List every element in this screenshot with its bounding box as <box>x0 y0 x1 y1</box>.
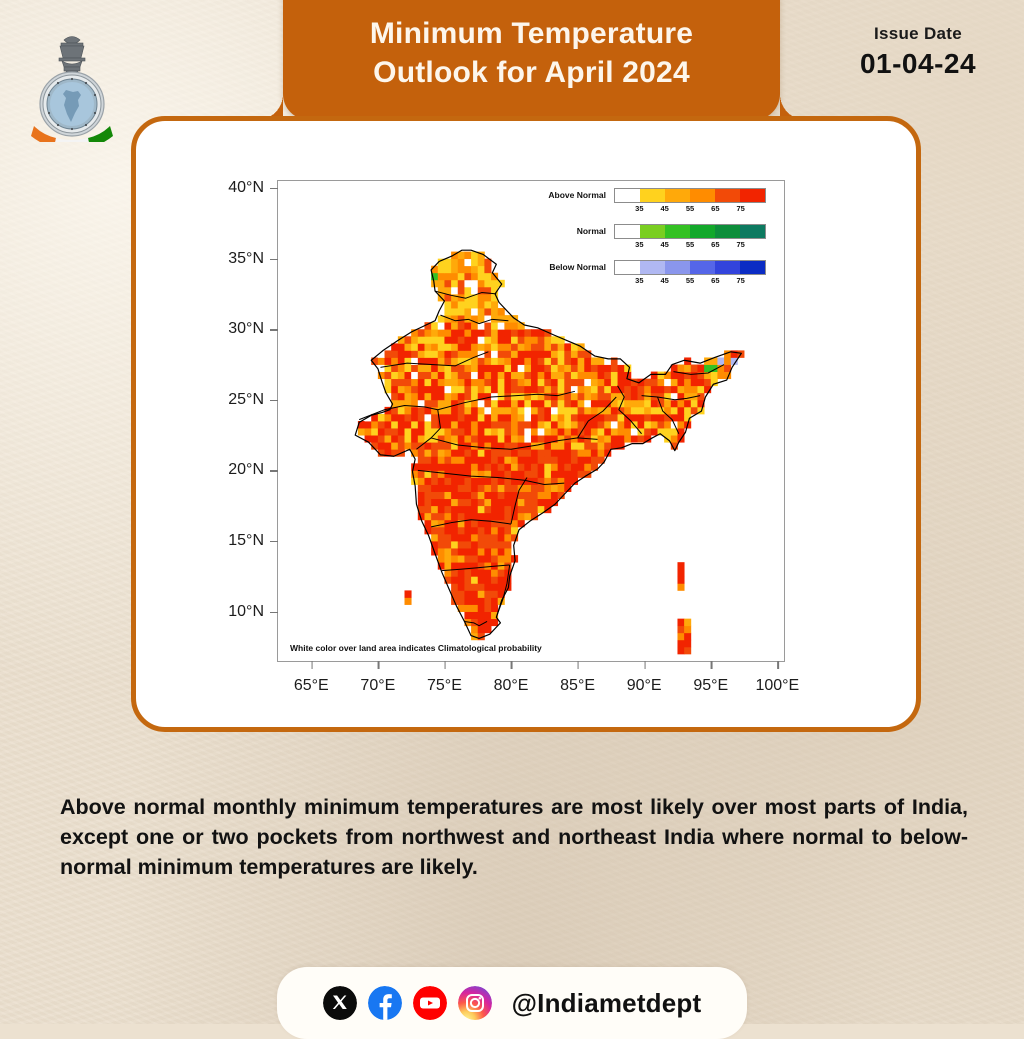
map-cell <box>411 414 418 421</box>
map-cell <box>691 365 698 372</box>
map-cell <box>684 619 691 626</box>
map-cell <box>504 365 511 372</box>
legend-swatch <box>665 261 690 274</box>
map-cell <box>438 477 445 484</box>
map-cell <box>564 343 571 350</box>
map-cell <box>544 449 551 456</box>
map-cell <box>424 506 431 513</box>
map-cell <box>511 414 518 421</box>
map-cell <box>518 414 525 421</box>
map-cell <box>571 357 578 364</box>
map-cell <box>464 322 471 329</box>
map-cell <box>411 365 418 372</box>
map-cell <box>444 280 451 287</box>
map-cell <box>464 336 471 343</box>
map-cell <box>598 421 605 428</box>
map-cell <box>551 485 558 492</box>
map-cell <box>684 633 691 640</box>
map-cell <box>551 442 558 449</box>
map-cell <box>491 583 498 590</box>
map-cell <box>504 492 511 499</box>
map-cell <box>471 273 478 280</box>
map-cell <box>531 506 538 513</box>
map-cell <box>464 605 471 612</box>
map-cell <box>518 421 525 428</box>
map-cell <box>444 329 451 336</box>
map-cell <box>631 400 638 407</box>
map-cell <box>538 357 545 364</box>
map-cell <box>458 315 465 322</box>
map-cell <box>484 527 491 534</box>
map-cell <box>578 372 585 379</box>
map-cell <box>491 322 498 329</box>
map-cell <box>424 499 431 506</box>
map-cell <box>478 273 485 280</box>
map-cell <box>464 393 471 400</box>
map-cell <box>524 421 531 428</box>
map-cell <box>478 301 485 308</box>
map-cell <box>444 336 451 343</box>
map-cell <box>571 463 578 470</box>
x-axis-tick: 100°E <box>755 661 799 695</box>
map-cell <box>471 407 478 414</box>
map-cell <box>544 470 551 477</box>
map-cell <box>624 400 631 407</box>
map-cell <box>524 492 531 499</box>
map-cell <box>664 428 671 435</box>
map-cell <box>564 470 571 477</box>
map-cell <box>591 365 598 372</box>
map-cell <box>431 407 438 414</box>
map-cell <box>378 428 385 435</box>
map-cell <box>464 421 471 428</box>
map-cell <box>431 492 438 499</box>
youtube-icon[interactable] <box>413 986 447 1020</box>
map-cell <box>458 499 465 506</box>
map-cell <box>484 583 491 590</box>
map-cell <box>491 350 498 357</box>
x-axis-tick: 75°E <box>427 661 462 695</box>
legend-tick: 55 <box>686 276 694 285</box>
map-cell <box>511 407 518 414</box>
map-cell <box>524 350 531 357</box>
map-cell <box>484 541 491 548</box>
map-cell <box>378 357 385 364</box>
y-axis-tick: 40°N <box>200 179 278 197</box>
map-cell <box>464 315 471 322</box>
map-cell <box>458 583 465 590</box>
map-cell <box>697 393 704 400</box>
map-cell <box>624 421 631 428</box>
map-cell <box>551 343 558 350</box>
map-cell <box>424 428 431 435</box>
facebook-icon[interactable] <box>368 986 402 1020</box>
legend-swatch <box>640 225 665 238</box>
map-cell <box>491 619 498 626</box>
map-cell <box>451 386 458 393</box>
map-cell <box>611 435 618 442</box>
map-cell <box>578 414 585 421</box>
map-cell <box>464 414 471 421</box>
map-cell <box>631 414 638 421</box>
map-cell <box>518 456 525 463</box>
map-cell <box>444 357 451 364</box>
map-cell <box>491 365 498 372</box>
map-cell <box>464 590 471 597</box>
map-cell <box>444 555 451 562</box>
map-cell <box>431 513 438 520</box>
map-cell <box>451 379 458 386</box>
map-cell <box>558 343 565 350</box>
map-cell <box>644 421 651 428</box>
map-cell <box>471 428 478 435</box>
map-cell <box>664 379 671 386</box>
map-cell <box>458 386 465 393</box>
map-cell <box>717 357 724 364</box>
map-cell <box>584 449 591 456</box>
map-cell <box>444 414 451 421</box>
map-cell <box>451 350 458 357</box>
map-cell <box>438 393 445 400</box>
map-cell <box>444 386 451 393</box>
map-cell <box>444 485 451 492</box>
map-cell <box>538 435 545 442</box>
map-cell <box>558 456 565 463</box>
map-cell <box>544 379 551 386</box>
map-cell <box>438 555 445 562</box>
legend-label: Below Normal <box>528 260 614 275</box>
map-cell <box>464 499 471 506</box>
map-cell <box>491 379 498 386</box>
map-cell <box>491 435 498 442</box>
y-axis-tick: 15°N <box>200 532 278 550</box>
map-cell <box>484 357 491 364</box>
map-cell <box>651 379 658 386</box>
legend-row: Above Normal3545556575 <box>528 188 776 215</box>
map-cell <box>451 435 458 442</box>
map-cell <box>491 513 498 520</box>
map-cell <box>431 421 438 428</box>
map-cell <box>598 372 605 379</box>
map-cell <box>424 414 431 421</box>
map-cell <box>558 485 565 492</box>
map-cell <box>471 308 478 315</box>
map-cell <box>558 463 565 470</box>
map-cell <box>438 470 445 477</box>
map-cell <box>524 506 531 513</box>
map-cell <box>598 449 605 456</box>
map-cell <box>504 470 511 477</box>
map-cell <box>418 393 425 400</box>
map-cell <box>531 421 538 428</box>
map-cell <box>491 372 498 379</box>
map-cell <box>438 520 445 527</box>
map-cell <box>671 414 678 421</box>
map-cell <box>398 435 405 442</box>
map-cell <box>578 442 585 449</box>
map-cell <box>451 301 458 308</box>
map-cell <box>464 583 471 590</box>
map-cell <box>591 386 598 393</box>
map-cell <box>451 266 458 273</box>
map-cell <box>551 407 558 414</box>
map-cell <box>444 322 451 329</box>
map-cell <box>498 548 505 555</box>
map-cell <box>511 470 518 477</box>
map-cell <box>438 548 445 555</box>
map-cell <box>538 379 545 386</box>
legend-swatches <box>614 260 766 275</box>
map-cell <box>571 421 578 428</box>
map-cell <box>531 357 538 364</box>
map-cell <box>424 492 431 499</box>
legend-tick: 65 <box>711 276 719 285</box>
x-axis-tick: 80°E <box>494 661 529 695</box>
map-cell <box>671 407 678 414</box>
map-cell <box>478 329 485 336</box>
map-cell <box>524 407 531 414</box>
map-cell <box>531 400 538 407</box>
map-cell <box>478 386 485 393</box>
map-cell <box>411 393 418 400</box>
map-cell <box>484 569 491 576</box>
map-cell <box>418 499 425 506</box>
map-cell <box>531 492 538 499</box>
map-cell <box>458 477 465 484</box>
map-cell <box>451 562 458 569</box>
map-cell <box>571 456 578 463</box>
map-cell <box>618 414 625 421</box>
map-cell <box>464 456 471 463</box>
map-cell <box>478 492 485 499</box>
map-cell <box>551 421 558 428</box>
map-cell <box>538 386 545 393</box>
map-cell <box>498 576 505 583</box>
map-cell <box>438 343 445 350</box>
map-cell <box>531 365 538 372</box>
map-cell <box>531 379 538 386</box>
map-cell <box>418 463 425 470</box>
map-card: Above Normal3545556575Normal3545556575Be… <box>131 116 921 732</box>
map-cell <box>458 287 465 294</box>
map-cell <box>558 379 565 386</box>
map-cell <box>378 421 385 428</box>
map-cell <box>451 541 458 548</box>
issue-date-value: 01-04-24 <box>830 48 1006 80</box>
legend-tick: 35 <box>635 276 643 285</box>
map-cell <box>464 477 471 484</box>
map-cell <box>511 350 518 357</box>
map-cell <box>651 372 658 379</box>
map-cell <box>438 499 445 506</box>
map-cell <box>405 590 412 597</box>
map-cell <box>584 372 591 379</box>
x-twitter-icon[interactable] <box>323 986 357 1020</box>
map-cell <box>604 428 611 435</box>
map-cell <box>511 485 518 492</box>
map-cell <box>438 336 445 343</box>
map-cell <box>584 386 591 393</box>
map-cell <box>391 372 398 379</box>
map-cell <box>591 357 598 364</box>
map-cell <box>504 513 511 520</box>
map-cell <box>478 449 485 456</box>
map-cell <box>418 386 425 393</box>
map-cell <box>651 414 658 421</box>
map-cell <box>405 386 412 393</box>
map-cell <box>451 315 458 322</box>
map-cell <box>598 428 605 435</box>
map-cell <box>478 513 485 520</box>
map-cell <box>471 266 478 273</box>
map-cell <box>518 428 525 435</box>
map-cell <box>677 640 684 647</box>
map-cell <box>504 428 511 435</box>
map-cell <box>498 470 505 477</box>
map-cell <box>471 534 478 541</box>
map-cell <box>458 280 465 287</box>
map-cell <box>491 527 498 534</box>
legend-label: Normal <box>528 224 614 239</box>
map-cell <box>611 386 618 393</box>
map-cell <box>471 329 478 336</box>
map-cell <box>484 456 491 463</box>
legend-tick-labels: 3545556575 <box>614 240 766 251</box>
map-cell <box>451 527 458 534</box>
map-cell <box>464 428 471 435</box>
map-cell <box>478 428 485 435</box>
map-cell <box>651 400 658 407</box>
map-cell <box>418 350 425 357</box>
map-cell <box>631 428 638 435</box>
map-cell <box>571 379 578 386</box>
map-cell <box>424 520 431 527</box>
map-cell <box>624 393 631 400</box>
map-cell <box>484 393 491 400</box>
map-cell <box>677 400 684 407</box>
map-cell <box>398 407 405 414</box>
map-cell <box>511 379 518 386</box>
map-cell <box>418 421 425 428</box>
map-cell <box>444 308 451 315</box>
map-cell <box>464 492 471 499</box>
map-cell <box>518 435 525 442</box>
map-cell <box>371 435 378 442</box>
page-title-line-1: Minimum Temperature <box>370 14 693 53</box>
map-legend: Above Normal3545556575Normal3545556575Be… <box>528 188 776 296</box>
instagram-icon[interactable] <box>458 986 492 1020</box>
map-cell <box>438 492 445 499</box>
map-cell <box>598 393 605 400</box>
map-cell <box>451 336 458 343</box>
map-cell <box>551 428 558 435</box>
map-cell <box>544 365 551 372</box>
map-cell <box>598 357 605 364</box>
map-cell <box>511 393 518 400</box>
map-cell <box>544 414 551 421</box>
map-cell <box>418 372 425 379</box>
map-cell <box>471 527 478 534</box>
map-cell <box>424 379 431 386</box>
map-cell <box>451 421 458 428</box>
map-cell <box>644 400 651 407</box>
map-cell <box>385 357 392 364</box>
map-cell <box>478 569 485 576</box>
map-cell <box>564 477 571 484</box>
x-axis-tick: 65°E <box>294 661 329 695</box>
map-cell <box>431 343 438 350</box>
map-cell <box>558 372 565 379</box>
map-cell <box>464 280 471 287</box>
map-cell <box>544 400 551 407</box>
map-cell <box>424 372 431 379</box>
map-cell <box>671 386 678 393</box>
map-cell <box>451 520 458 527</box>
map-cell <box>498 357 505 364</box>
map-cell <box>424 442 431 449</box>
map-cell <box>498 421 505 428</box>
map-cell <box>484 400 491 407</box>
map-cell <box>444 372 451 379</box>
map-cell <box>558 414 565 421</box>
legend-swatches <box>614 188 766 203</box>
map-cell <box>498 308 505 315</box>
map-cell <box>424 485 431 492</box>
map-cell <box>484 372 491 379</box>
y-axis-tick: 30°N <box>200 320 278 338</box>
map-cell <box>524 428 531 435</box>
map-cell <box>458 273 465 280</box>
map-cell <box>398 442 405 449</box>
map-cell <box>405 365 412 372</box>
map-cell <box>444 534 451 541</box>
map-cell <box>464 612 471 619</box>
map-cell <box>538 414 545 421</box>
map-cell <box>518 470 525 477</box>
map-cell <box>584 414 591 421</box>
map-cell <box>584 379 591 386</box>
map-cell <box>491 357 498 364</box>
map-cell <box>511 322 518 329</box>
map-cell <box>378 442 385 449</box>
map-cell <box>538 343 545 350</box>
map-cell <box>484 407 491 414</box>
map-cell <box>478 259 485 266</box>
map-cell <box>424 449 431 456</box>
map-cell <box>484 548 491 555</box>
y-axis-tick: 10°N <box>200 603 278 621</box>
map-cell <box>571 393 578 400</box>
map-cell <box>458 329 465 336</box>
map-cell <box>524 329 531 336</box>
map-cell <box>491 428 498 435</box>
map-cell <box>598 414 605 421</box>
map-cell <box>524 379 531 386</box>
map-cell <box>471 513 478 520</box>
map-cell <box>484 513 491 520</box>
map-cell <box>571 470 578 477</box>
map-cell <box>631 435 638 442</box>
map-cell <box>464 343 471 350</box>
map-cell <box>405 379 412 386</box>
map-cell <box>484 590 491 597</box>
map-cell <box>544 485 551 492</box>
map-cell <box>558 400 565 407</box>
map-cell <box>551 365 558 372</box>
map-cell <box>418 485 425 492</box>
map-cell <box>538 456 545 463</box>
map-cell <box>464 350 471 357</box>
